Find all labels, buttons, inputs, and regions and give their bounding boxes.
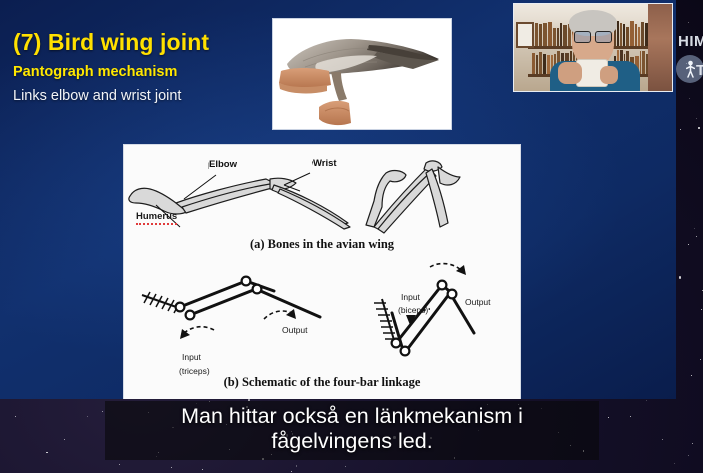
- subtitle-line-1: Man hittar också en länkmekanism i: [113, 404, 591, 429]
- label-input-biceps-line2: (biceps): [398, 305, 428, 315]
- video-player-stage: (7) Bird wing joint Pantograph mechanism…: [0, 0, 703, 473]
- subtitle-line-2: fågelvingens led.: [113, 429, 591, 454]
- watermark-figure-icon: [686, 60, 695, 78]
- label-input-triceps-line1: Input: [182, 352, 201, 362]
- panel-a-caption: (a) Bones in the avian wing: [124, 237, 520, 252]
- slide-title-block: (7) Bird wing joint Pantograph mechanism…: [13, 30, 275, 104]
- label-input-biceps-line1: Input: [401, 292, 420, 302]
- label-humerus: Humerus: [136, 211, 177, 222]
- window-curtain: [648, 4, 672, 91]
- subtitle-overlay: Man hittar också en länkmekanism i fågel…: [105, 401, 599, 460]
- label-wrist: Wrist: [313, 158, 337, 169]
- slide-description: Links elbow and wrist joint: [13, 88, 275, 104]
- panel-b-caption: (b) Schematic of the four-bar linkage: [124, 375, 520, 390]
- page-title: (7) Bird wing joint: [13, 30, 275, 55]
- watermark-text-line1: HIM: [678, 33, 703, 50]
- label-output-right: Output: [465, 297, 491, 307]
- watermark-text-line2: T: [696, 62, 703, 79]
- presenter-hand-left: [558, 62, 582, 84]
- label-elbow: Elbow: [209, 159, 237, 170]
- bird-wing-illustration: [273, 19, 451, 129]
- presenter-glasses: [574, 31, 612, 41]
- channel-watermark: HIM T: [676, 0, 703, 473]
- wall-picture: [516, 22, 534, 48]
- presenter-webcam[interactable]: [513, 3, 673, 92]
- four-bar-linkage-figure: Elbow Wrist Humerus Elbow Wrist (a) Bone…: [123, 144, 521, 399]
- presenter-hand-right: [600, 66, 618, 84]
- bird-wing-photo: [272, 18, 452, 130]
- slide-subtitle: Pantograph mechanism: [13, 64, 275, 80]
- label-output-left: Output: [282, 325, 308, 335]
